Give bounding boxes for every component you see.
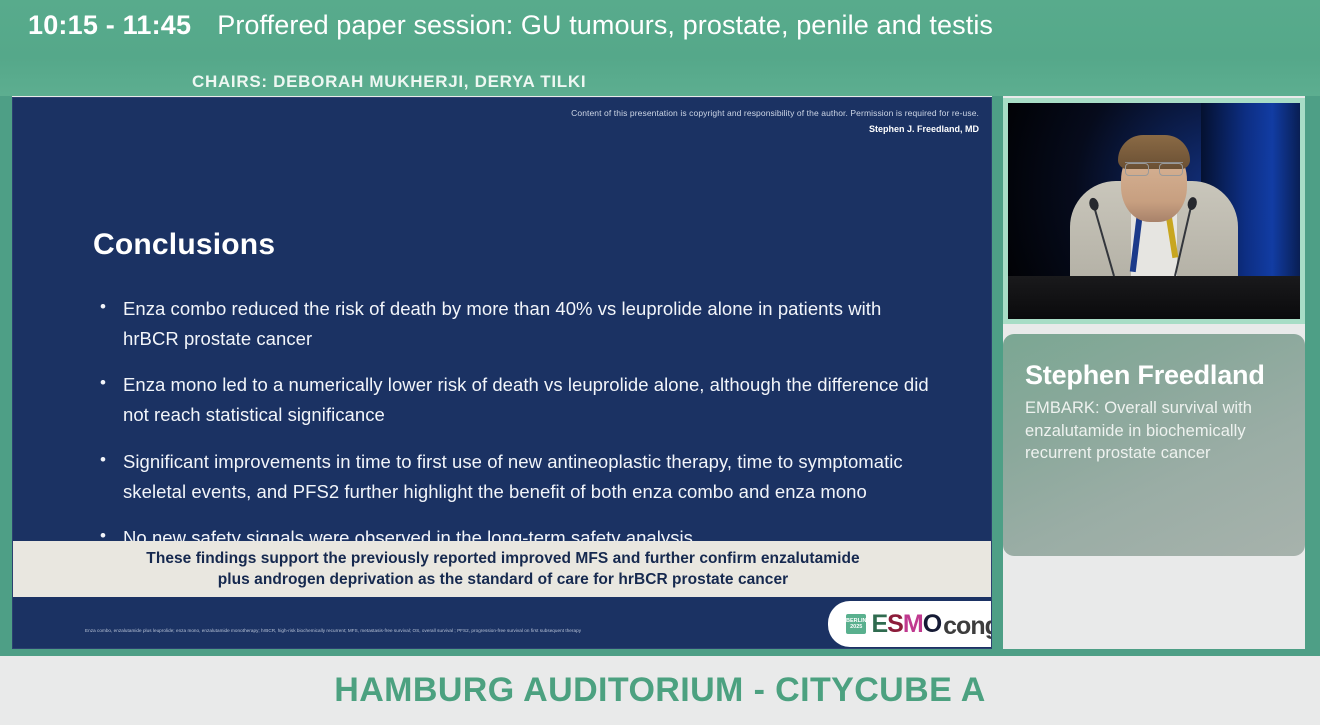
esmo-letter-o: O [923,612,941,637]
key-takeaway-box: These findings support the previously re… [13,541,992,597]
middle-background-strip [992,96,1003,649]
podium [1008,276,1300,319]
session-time: 10:15 - 11:45 [28,10,191,41]
esmo-letter-e: E [871,612,887,637]
glasses-icon [1125,162,1183,174]
speaker-video-feed[interactable] [1008,103,1300,319]
key-takeaway-line-1: These findings support the previously re… [146,548,859,569]
list-item: Significant improvements in time to firs… [93,447,933,507]
session-title: Proffered paper session: GU tumours, pro… [217,10,993,41]
speaker-name: Stephen Freedland [1025,360,1283,390]
bottom-background-strip [0,649,1320,656]
copyright-notice: Content of this presentation is copyrigh… [571,107,979,136]
speaker-info-panel: Stephen Freedland EMBARK: Overall surviv… [1003,334,1305,556]
venue-banner: HAMBURG AUDITORIUM - CITYCUBE A [0,656,1320,725]
copyright-text: Content of this presentation is copyrigh… [571,107,979,120]
slide-author: Stephen J. Freedland, MD [571,123,979,137]
list-item: Enza combo reduced the risk of death by … [93,294,933,354]
esmo-congress-word: congress [943,614,992,639]
list-item: Enza mono led to a numerically lower ris… [93,370,933,430]
esmo-congress-logo: BERLIN 2025 E S M O congress [828,601,992,647]
session-header: 10:15 - 11:45 Proffered paper session: G… [0,0,1320,96]
session-header-title-row: 10:15 - 11:45 Proffered paper session: G… [28,10,993,41]
right-background-strip [1305,96,1320,649]
esmo-city-year-badge: BERLIN 2025 [846,614,866,634]
venue-name: HAMBURG AUDITORIUM - CITYCUBE A [334,671,985,710]
speaker-video-frame[interactable] [1003,98,1305,324]
esmo-wordmark: E S M O congress [871,609,992,639]
esmo-letter-s: S [887,612,903,637]
abbreviations-footnote: Enza combo, enzalutamide plus leuprolide… [85,628,725,634]
esmo-badge-year: 2025 [850,624,862,630]
session-chairs: CHAIRS: DEBORAH MUKHERJI, DERYA TILKI [192,72,586,92]
presentation-slide[interactable]: Content of this presentation is copyrigh… [12,97,992,649]
slide-title: Conclusions [93,228,275,262]
key-takeaway-line-2: plus androgen deprivation as the standar… [218,569,788,590]
conclusions-list: Enza combo reduced the risk of death by … [93,294,933,569]
speaker-talk-title: EMBARK: Overall survival with enzalutami… [1025,397,1283,464]
broadcast-stage: 10:15 - 11:45 Proffered paper session: G… [0,0,1320,725]
left-background-strip [0,96,12,649]
slide-footer: Enza combo, enzalutamide plus leuprolide… [13,597,992,649]
esmo-letter-m: M [903,612,923,637]
